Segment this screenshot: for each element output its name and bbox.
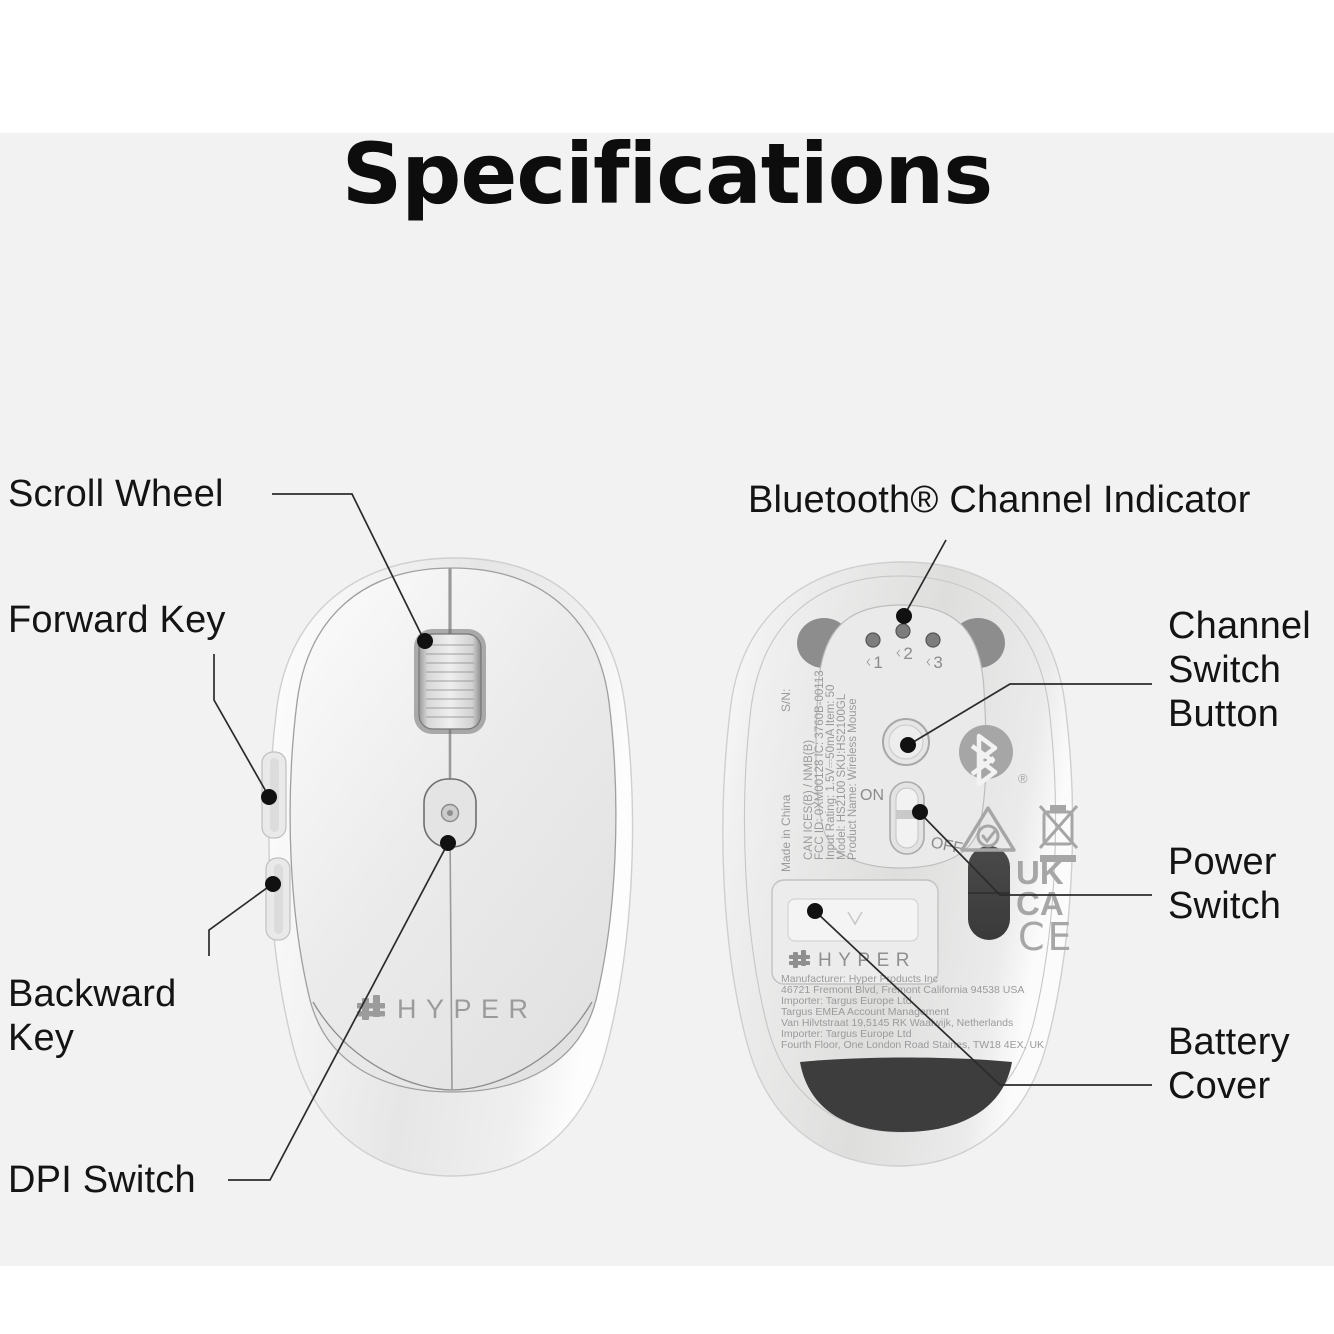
callout-channel-switch-button[interactable]: Channel Switch Button: [1168, 604, 1334, 736]
callout-bluetooth-channel-indicator[interactable]: Bluetooth® Channel Indicator: [748, 478, 1334, 522]
spec-line-3: FCC ID: 0XM00128 IC: 3760B-00113: [814, 670, 826, 860]
origin-label: Made in China: [779, 794, 793, 872]
leader-dot-bluetooth-indicator: [896, 608, 912, 624]
mouse-top-view: HYPER: [262, 558, 633, 1176]
spec-line-2: Input Rating: 1.5V⎓50mA Item: 50: [825, 685, 837, 860]
spec-line-0: Product Name: Wireless Mouse: [847, 698, 859, 860]
leader-dot-backward-key: [265, 876, 281, 892]
leader-dot-dpi-switch: [440, 835, 456, 851]
specifications-diagram: Specifications: [0, 0, 1334, 1334]
led-channel-2: [896, 624, 910, 638]
led-channel-3: [926, 633, 940, 647]
callout-backward-key[interactable]: Backward Key: [8, 972, 176, 1060]
spec-line-1: Model: HS2100 SKU:HS2100GL: [836, 693, 848, 860]
address-line-6: Fourth Floor, One London Road Staines, T…: [781, 1039, 1044, 1051]
power-switch-on-label: ON: [860, 787, 884, 804]
led-label-3: ᚲ3: [923, 653, 943, 672]
callout-dpi-switch[interactable]: DPI Switch: [8, 1158, 196, 1202]
leader-dot-channel-switch: [900, 737, 916, 753]
mouse-bottom-view: ᚲ1 ᚲ2 ᚲ3 ON OFF: [723, 562, 1077, 1166]
spec-line-4: CAN ICES(B) / NMB(B): [803, 740, 815, 860]
backward-key-button[interactable]: [266, 858, 290, 940]
callout-power-switch[interactable]: Power Switch: [1168, 840, 1334, 928]
led-channel-1: [866, 633, 880, 647]
leader-dot-scroll-wheel: [417, 633, 433, 649]
leader-dot-forward-key: [261, 789, 277, 805]
led-label-1: ᚲ1: [863, 653, 883, 672]
hyper-wordmark-top: HYPER: [397, 994, 538, 1024]
svg-text:®: ®: [1018, 771, 1028, 786]
led-label-2: ᚲ2: [893, 644, 913, 663]
leader-backward-key: [209, 885, 271, 956]
callout-forward-key[interactable]: Forward Key: [8, 598, 226, 642]
leader-forward-key: [214, 654, 268, 795]
leader-dot-battery-cover: [807, 903, 823, 919]
serial-label: S/N:: [779, 689, 793, 712]
ce-mark: CE: [1018, 915, 1075, 959]
mouse-illustrations: HYPER ᚲ1 ᚲ2 ᚲ3: [0, 0, 1334, 1334]
leader-dot-power-switch: [912, 804, 928, 820]
callout-scroll-wheel[interactable]: Scroll Wheel: [8, 472, 224, 516]
callout-battery-cover[interactable]: Battery Cover: [1168, 1020, 1334, 1108]
